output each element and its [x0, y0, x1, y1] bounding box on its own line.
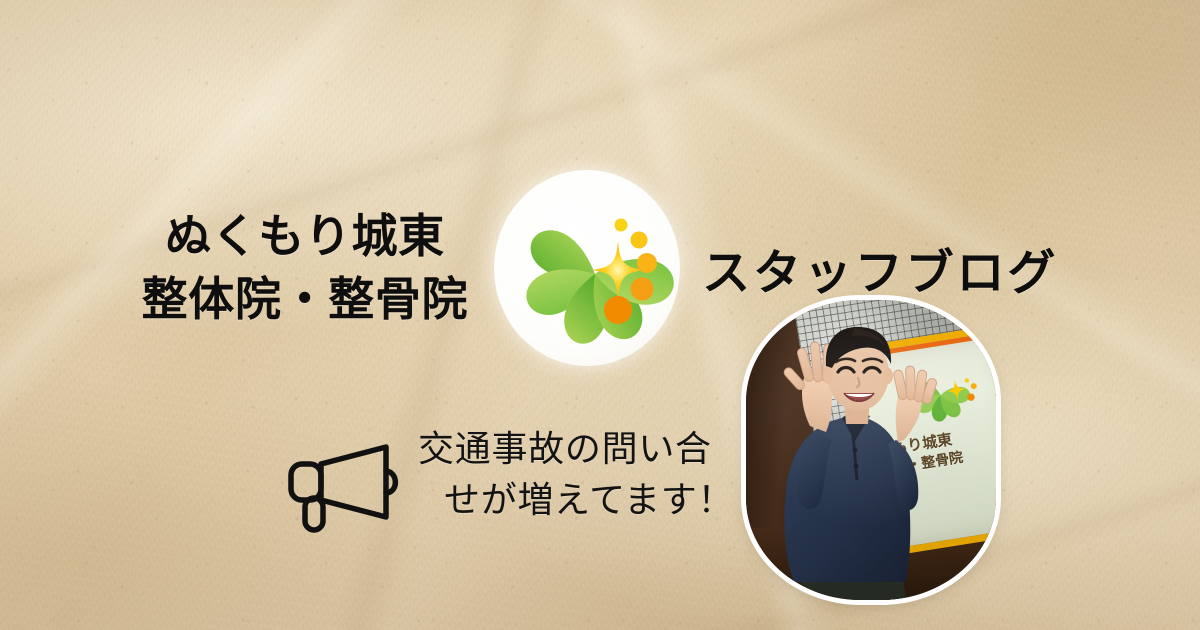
nukumori-swirl-logo-icon: [494, 170, 680, 366]
photo-gloss: [746, 300, 996, 600]
clinic-name: ぬくもり城東 整体院・整骨院: [142, 211, 468, 324]
title-row: ぬくもり城東 整体院・整骨院: [0, 168, 1200, 368]
promo-line2: せが増えてます！: [444, 475, 734, 526]
clinic-name-line2: 整体院・整骨院: [142, 274, 468, 325]
blog-header-banner: ぬくもり城東 整体院・整骨院: [0, 0, 1200, 630]
staff-photo: ぬくもり城東 整体院・整骨院: [746, 300, 996, 600]
megaphone-icon: [286, 438, 404, 534]
promo-callout: 交通事故の問い合 せが増えてます！: [286, 424, 756, 554]
blog-word: スタッフブログ: [702, 233, 1058, 303]
promo-line1: 交通事故の問い合: [418, 429, 712, 470]
photo-content: ぬくもり城東 整体院・整骨院: [746, 300, 996, 600]
promo-text: 交通事故の問い合 せが増えてます！: [418, 424, 734, 526]
clinic-name-line1: ぬくもり城東: [165, 211, 445, 262]
